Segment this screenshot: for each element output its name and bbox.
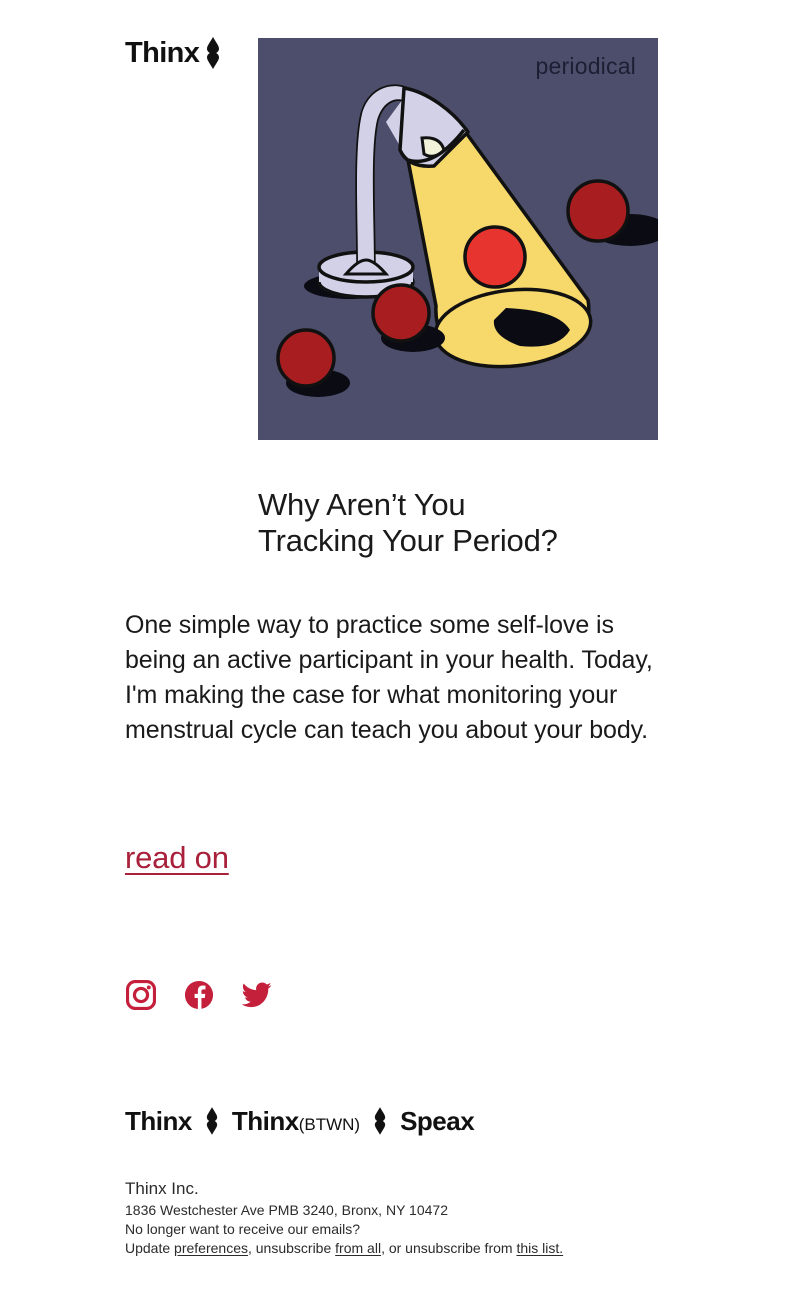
company-address: 1836 Westchester Ave PMB 3240, Bronx, NY… xyxy=(125,1201,685,1220)
optout-question: No longer want to receive our emails? xyxy=(125,1220,685,1239)
droplet-colon-icon xyxy=(206,36,220,70)
preferences-link[interactable]: preferences xyxy=(174,1240,248,1256)
facebook-icon[interactable] xyxy=(184,980,214,1010)
header-logo[interactable]: Thinx xyxy=(125,36,220,70)
twitter-icon[interactable] xyxy=(242,980,272,1010)
unsubscribe-mid: , unsubscribe xyxy=(248,1240,335,1256)
brand-thinx[interactable]: Thinx xyxy=(125,1108,192,1134)
headline-line-1: Why Aren’t You xyxy=(258,487,465,522)
legal-footer: Thinx Inc. 1836 Westchester Ave PMB 3240… xyxy=(125,1177,685,1258)
from-all-link[interactable]: from all xyxy=(335,1240,381,1256)
instagram-icon[interactable] xyxy=(126,980,156,1010)
brand-thinx-btwn[interactable]: Thinx(BTWN) xyxy=(232,1108,360,1134)
brand-speax[interactable]: Speax xyxy=(400,1108,474,1134)
droplet-separator-icon-1 xyxy=(206,1106,218,1136)
article-headline: Why Aren’t You Tracking Your Period? xyxy=(258,487,678,560)
headline-line-2: Tracking Your Period? xyxy=(258,523,558,558)
email-body: Thinx xyxy=(0,0,800,1312)
update-prefix: Update xyxy=(125,1240,174,1256)
droplet-separator-icon-2 xyxy=(374,1106,386,1136)
company-name: Thinx Inc. xyxy=(125,1177,685,1200)
hero-label: periodical xyxy=(536,55,636,78)
article-body: One simple way to practice some self-lov… xyxy=(125,608,670,748)
brand-family-footer: Thinx Thinx(BTWN) Speax xyxy=(125,1106,474,1136)
hero-illustration: periodical xyxy=(258,38,658,440)
brand-wordmark: Thinx xyxy=(125,39,199,68)
this-list-link[interactable]: this list. xyxy=(516,1240,563,1256)
read-on-link[interactable]: read on xyxy=(125,841,229,875)
brand-thinx-btwn-name: Thinx xyxy=(232,1106,299,1136)
social-links xyxy=(126,980,272,1010)
unsubscribe-tail: , or unsubscribe from xyxy=(381,1240,516,1256)
unsubscribe-line: Update preferences, unsubscribe from all… xyxy=(125,1239,685,1258)
brand-thinx-btwn-sub: (BTWN) xyxy=(299,1115,360,1134)
